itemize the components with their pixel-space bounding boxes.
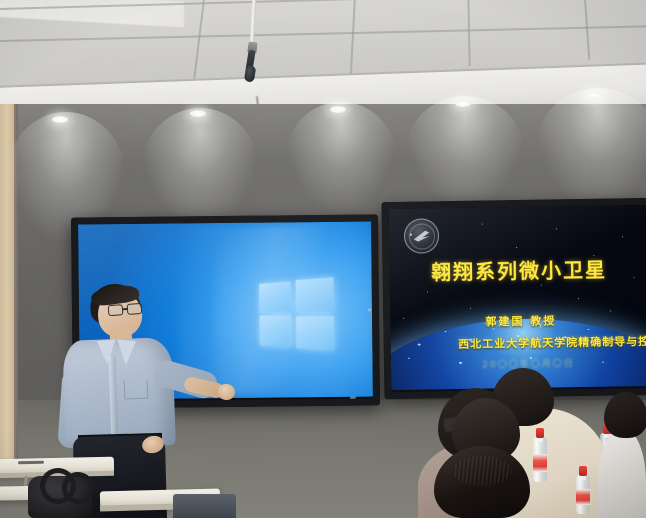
ceiling-tile-line <box>350 0 356 74</box>
downlight-lamp <box>455 100 471 107</box>
bottle-cap <box>536 428 545 438</box>
display-left-logo-strip <box>350 397 356 399</box>
water-bottle <box>576 466 590 514</box>
wall-wood-trim-edge <box>14 104 18 464</box>
water-bottle <box>533 428 547 482</box>
downlight-lamp <box>330 106 346 113</box>
ceiling-tile-line <box>584 0 590 60</box>
display-left-indicator <box>368 308 371 311</box>
equipment-box <box>173 494 236 518</box>
ceiling-tile-line <box>0 25 646 41</box>
presenter-shirt-pocket <box>124 380 149 400</box>
downlight-lamp <box>190 110 206 117</box>
bottle-cap <box>579 466 588 476</box>
lecture-room-photo: 翱翔系列微小卫星 郭建国 教授 西北工业大学航天学院精确制导与控制 20〇〇年〇… <box>0 0 646 518</box>
ceiling-tile-line <box>192 0 205 86</box>
downlight-lamp <box>52 116 68 123</box>
downlight-lamp <box>586 92 602 99</box>
attendee-white-shirt-head <box>604 392 646 438</box>
attendee-ponytail-hair-texture <box>452 456 512 486</box>
table-cable-slot <box>18 461 44 465</box>
ceiling-tile-line <box>467 0 470 66</box>
